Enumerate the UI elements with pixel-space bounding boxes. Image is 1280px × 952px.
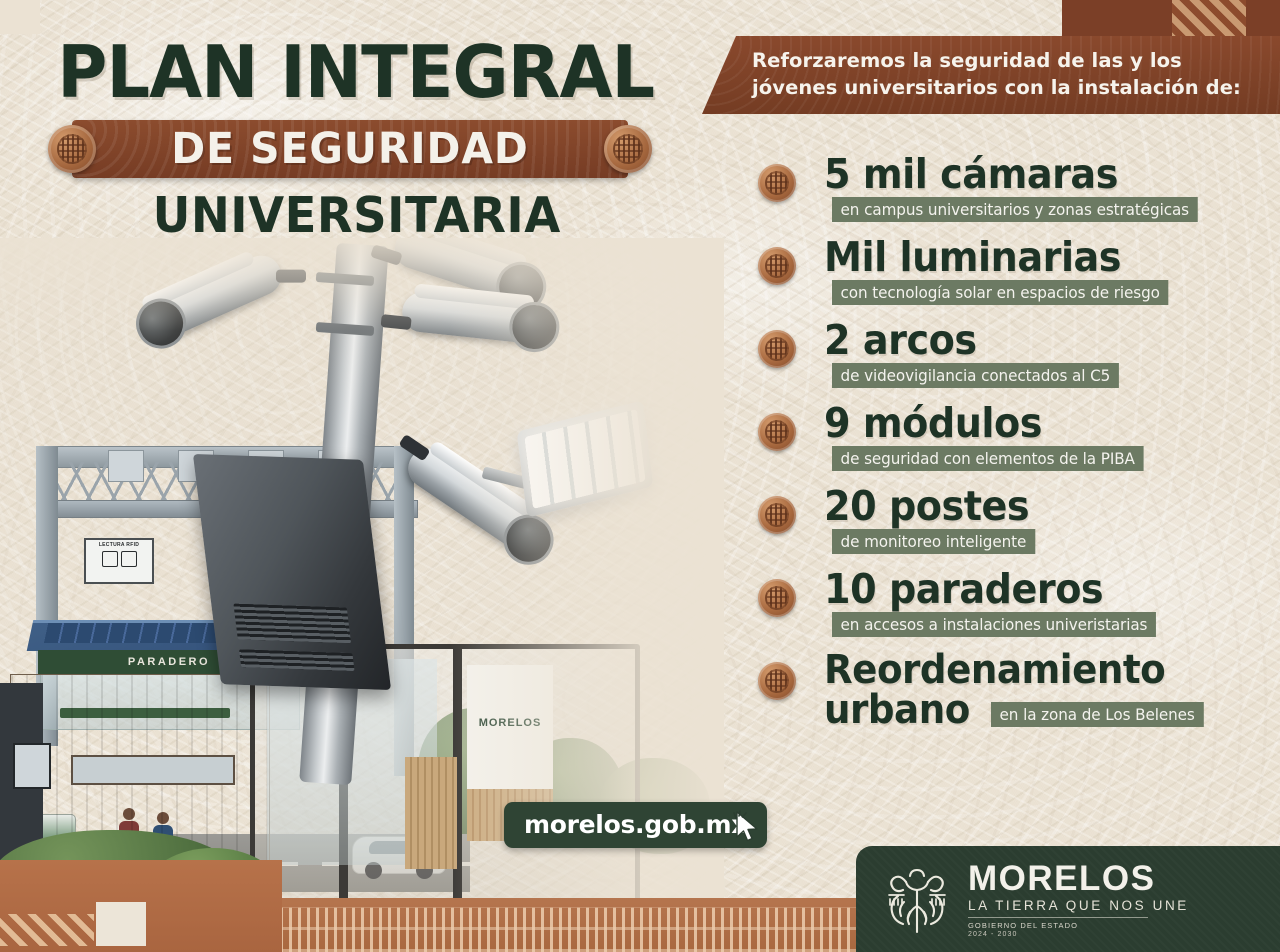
list-item-body: 10 paraderos en accesos a instalaciones … — [758, 567, 1280, 637]
title-ribbon: DE SEGURIDAD — [72, 120, 628, 178]
camera-mount-arm — [276, 270, 306, 283]
list-item-title: 9 módulos — [824, 401, 1248, 445]
title-line-1: PLAN INTEGRAL — [18, 36, 683, 108]
module-window — [13, 743, 51, 789]
medallion-bullet-icon — [758, 247, 796, 285]
list-item: 5 mil cámaras en campus universitarios y… — [758, 152, 1280, 222]
feature-list: 5 mil cámaras en campus universitarios y… — [758, 152, 1280, 743]
bottom-left-hatch-pattern — [0, 914, 94, 946]
morelos-logo-card: MORELOS LA TIERRA QUE NOS UNE GOBIERNO D… — [856, 846, 1280, 952]
title-line-3: UNIVERSITARIA — [18, 186, 683, 246]
top-left-notch — [0, 0, 40, 34]
header-banner: Reforzaremos la seguridad de las y los j… — [702, 36, 1280, 114]
list-item: 2 arcos de videovigilancia conectados al… — [758, 318, 1280, 388]
rfid-sign-icons — [86, 551, 152, 567]
list-item: Reordenamiento urbano en la zona de Los … — [758, 650, 1280, 730]
list-item-subtitle: de videovigilancia conectados al C5 — [832, 363, 1119, 388]
title-line-2: DE SEGURIDAD — [86, 120, 614, 178]
logo-inner: MORELOS LA TIERRA QUE NOS UNE GOBIERNO D… — [856, 846, 1280, 952]
list-item-subtitle: en la zona de Los Belenes — [991, 702, 1203, 727]
list-item: 9 módulos de seguridad con elementos de … — [758, 401, 1280, 471]
list-item-title-second-line: urbano — [824, 690, 970, 730]
list-item: Mil luminarias con tecnología solar en e… — [758, 235, 1280, 305]
list-item-subtitle: con tecnología solar en espacios de ries… — [832, 280, 1168, 305]
website-url-badge[interactable]: morelos.gob.mx — [504, 802, 767, 848]
poster-title-block: PLAN INTEGRAL DE SEGURIDAD UNIVERSITARIA — [0, 36, 700, 246]
cursor-pointer-icon — [733, 810, 763, 844]
module-strip-window — [71, 755, 235, 785]
list-item-body: 20 postes de monitoreo inteligente — [758, 484, 1280, 554]
list-item-body: 5 mil cámaras en campus universitarios y… — [758, 152, 1280, 222]
list-item-body: Reordenamiento urbano en la zona de Los … — [758, 650, 1280, 730]
kiosk-wood-slats — [405, 757, 457, 869]
list-item: 20 postes de monitoreo inteligente — [758, 484, 1280, 554]
greca-pattern-border — [280, 898, 880, 952]
list-item-title: 2 arcos — [824, 318, 1248, 362]
list-item-title: Reordenamiento — [824, 650, 1248, 690]
morelos-emblem-icon — [880, 862, 954, 936]
medallion-bullet-icon — [758, 413, 796, 451]
logo-slogan: LA TIERRA QUE NOS UNE — [968, 898, 1189, 913]
list-item-subtitle: en accesos a instalaciones univeristaria… — [832, 612, 1156, 637]
list-item-title: 5 mil cámaras — [824, 152, 1248, 196]
list-item-body: 9 módulos de seguridad con elementos de … — [758, 401, 1280, 471]
medallion-icon — [604, 125, 652, 173]
gantry-sensor-box — [108, 450, 144, 482]
list-item-body: Mil luminarias con tecnología solar en e… — [758, 235, 1280, 305]
list-item-title: Mil luminarias — [824, 235, 1248, 279]
list-item-body: 2 arcos de videovigilancia conectados al… — [758, 318, 1280, 388]
list-item-title: 10 paraderos — [824, 567, 1248, 611]
enclosure-vent — [233, 604, 351, 644]
medallion-bullet-icon — [758, 330, 796, 368]
medallion-bullet-icon — [758, 164, 796, 202]
header-banner-text: Reforzaremos la seguridad de las y los j… — [702, 36, 1280, 101]
list-item-title-row: urbano en la zona de Los Belenes — [824, 690, 1280, 730]
list-item-title: 20 postes — [824, 484, 1248, 528]
medallion-bullet-icon — [758, 579, 796, 617]
list-item-subtitle: en campus universitarios y zonas estraté… — [832, 197, 1198, 222]
enclosure-vent — [239, 649, 355, 671]
logo-name: MORELOS — [968, 861, 1189, 897]
equipment-enclosure — [193, 454, 391, 690]
logo-government-label: GOBIERNO DEL ESTADO — [968, 921, 1189, 930]
rfid-sign: LECTURA RFID — [84, 538, 154, 584]
kiosk-brand-label: MORELOS — [467, 717, 553, 729]
logo-divider — [968, 917, 1148, 918]
medallion-bullet-icon — [758, 662, 796, 700]
list-item: 10 paraderos en accesos a instalaciones … — [758, 567, 1280, 637]
bottom-left-square — [96, 902, 146, 946]
logo-years: 2024 - 2030 — [968, 931, 1189, 938]
medallion-bullet-icon — [758, 496, 796, 534]
list-item-subtitle: de seguridad con elementos de la PIBA — [832, 446, 1143, 471]
logo-text-block: MORELOS LA TIERRA QUE NOS UNE GOBIERNO D… — [968, 861, 1189, 938]
poster-root: LECTURA RFID PARADERO — [0, 0, 1280, 952]
list-item-subtitle: de monitoreo inteligente — [832, 529, 1035, 554]
rfid-sign-label: LECTURA RFID — [86, 540, 152, 548]
